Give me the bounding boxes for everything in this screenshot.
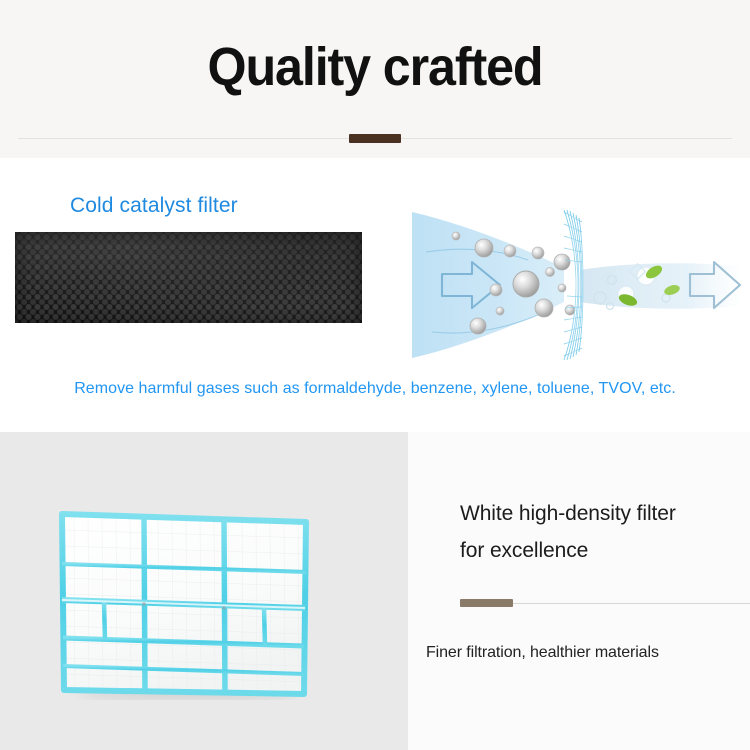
harmful-gases-caption: Remove harmful gases such as formaldehyd… <box>0 380 750 398</box>
page-title: Quality crafted <box>26 36 724 98</box>
cold-catalyst-heading: Cold catalyst filter <box>70 194 238 218</box>
header-accent-bar <box>349 134 401 143</box>
high-density-heading: White high-density filter for excellence <box>460 495 750 569</box>
product-infographic: Quality crafted Cold catalyst filter <box>0 0 750 750</box>
white-filter-text-panel: White high-density filter for excellence… <box>408 432 750 750</box>
high-density-subtext: Finer filtration, healthier materials <box>426 644 746 662</box>
air-filtration-diagram <box>404 210 744 360</box>
cold-catalyst-honeycomb-panel <box>15 232 362 323</box>
high-density-accent-bar <box>460 599 513 607</box>
white-filter-image-panel <box>0 432 408 750</box>
high-density-heading-line2: for excellence <box>460 532 750 569</box>
high-density-heading-line1: White high-density filter <box>460 495 750 532</box>
cold-catalyst-section: Cold catalyst filter <box>0 158 750 432</box>
white-high-density-filter <box>54 508 316 700</box>
